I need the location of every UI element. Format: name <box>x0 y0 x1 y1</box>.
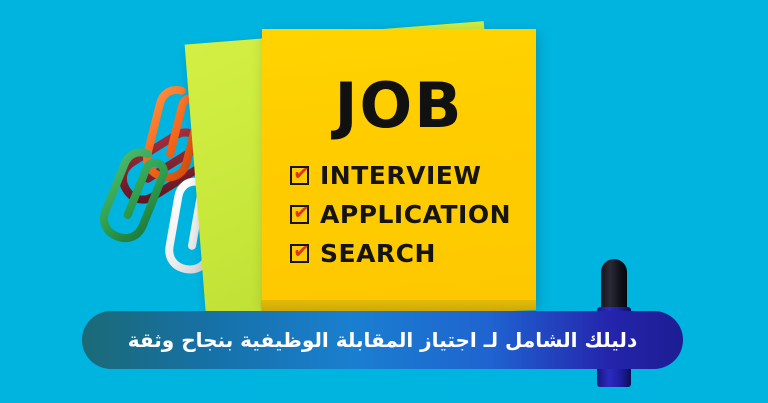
yellow-sticky-note: JOB ✔ INTERVIEW ✔ APPLICATION ✔ SEARCH <box>262 29 536 304</box>
image-canvas: JOB ✔ INTERVIEW ✔ APPLICATION ✔ SEARCH <box>0 0 768 403</box>
checkmark-icon: ✔ <box>292 162 310 184</box>
tube-cap <box>601 259 627 311</box>
caption-banner: دليلك الشامل لـ اجتياز المقابلة الوظيفية… <box>82 311 683 369</box>
checkmark-icon: ✔ <box>292 201 310 223</box>
checklist-item-label: SEARCH <box>320 241 436 266</box>
checklist-item-search[interactable]: ✔ SEARCH <box>290 237 526 269</box>
checklist-item-label: APPLICATION <box>320 202 511 227</box>
checkbox-icon[interactable]: ✔ <box>290 244 309 263</box>
note-checklist: ✔ INTERVIEW ✔ APPLICATION ✔ SEARCH <box>290 159 526 276</box>
caption-text: دليلك الشامل لـ اجتياز المقابلة الوظيفية… <box>128 328 637 352</box>
checklist-item-application[interactable]: ✔ APPLICATION <box>290 198 526 230</box>
checklist-item-interview[interactable]: ✔ INTERVIEW <box>290 159 526 191</box>
checkbox-icon[interactable]: ✔ <box>290 205 309 224</box>
checklist-item-label: INTERVIEW <box>320 163 481 188</box>
checkmark-icon: ✔ <box>292 240 310 262</box>
note-title: JOB <box>262 75 536 137</box>
checkbox-icon[interactable]: ✔ <box>290 166 309 185</box>
